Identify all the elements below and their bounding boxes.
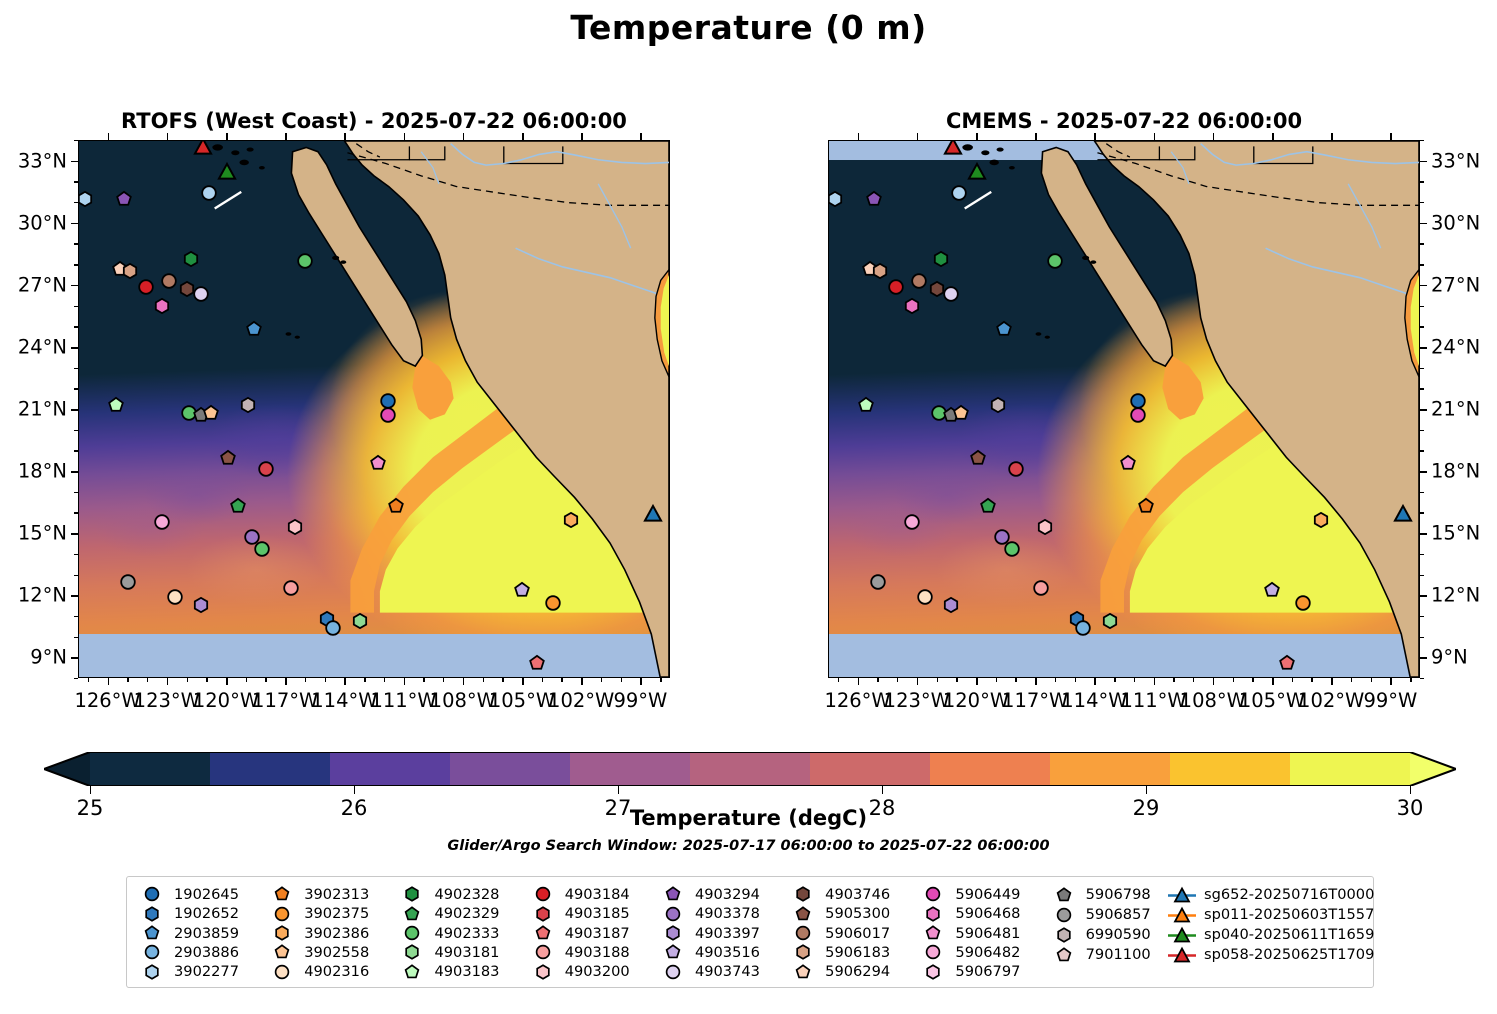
- x-tick: [858, 678, 860, 685]
- y-tick-label: 21°N: [1431, 398, 1480, 421]
- x-tick-minor: [621, 678, 622, 682]
- x-tick-minor: [838, 678, 839, 682]
- x-tick-label: 117°W: [1002, 689, 1068, 712]
- legend-item-label: 4903397: [695, 925, 760, 942]
- argo-legend-marker-icon: [788, 925, 818, 942]
- x-tick-top: [463, 133, 465, 140]
- y-tick: [71, 657, 78, 659]
- colorbar-tick: [882, 786, 883, 794]
- argo-legend-marker-icon: [918, 963, 948, 980]
- legend-item-label: 4903294: [695, 886, 760, 903]
- legend-item[interactable]: 5906798: [1049, 885, 1167, 904]
- legend-item-label: 7901100: [1086, 946, 1151, 963]
- x-tick-minor: [1134, 678, 1135, 682]
- x-tick-label: 99°W: [613, 689, 667, 712]
- x-tick-label: 102°W: [1298, 689, 1364, 712]
- x-tick-label: 105°W: [1239, 689, 1305, 712]
- argo-legend-marker-icon: [528, 905, 558, 922]
- x-tick-minor: [265, 678, 266, 682]
- legend-item[interactable]: 1902645: [137, 885, 267, 903]
- y-tick-minor: [1420, 430, 1424, 431]
- y-tick-minor: [1420, 575, 1424, 576]
- x-tick-label: 123°W: [134, 689, 200, 712]
- legend-column: 49031844903185490318749031884903200: [528, 885, 658, 981]
- legend-item-label: sp011-20250603T1557: [1204, 906, 1374, 923]
- x-tick-minor: [1015, 678, 1016, 682]
- argo-legend-marker-icon: [528, 944, 558, 961]
- x-tick-top: [581, 133, 583, 140]
- x-tick: [917, 678, 919, 685]
- legend-item[interactable]: 4902328: [397, 885, 527, 903]
- x-tick-minor: [561, 678, 562, 682]
- legend-item[interactable]: 5906183: [788, 943, 918, 961]
- argo-legend-marker-icon: [267, 905, 297, 922]
- x-tick-minor: [147, 678, 148, 682]
- x-tick: [167, 678, 169, 685]
- legend-column: 49023284902329490233349031814903183: [397, 885, 527, 981]
- argo-legend-marker-icon: [788, 963, 818, 980]
- x-tick-minor: [443, 678, 444, 682]
- x-tick: [1035, 678, 1037, 685]
- argo-legend-marker-icon: [528, 963, 558, 980]
- argo-legend-marker-icon: [137, 886, 167, 903]
- glider-legend-marker-icon: [1167, 926, 1197, 943]
- legend-item[interactable]: 6990590: [1049, 925, 1167, 944]
- legend-item[interactable]: 5906294: [788, 963, 918, 981]
- x-tick-minor: [877, 678, 878, 682]
- y-tick-label: 30°N: [18, 211, 67, 234]
- legend-item-label: 2903886: [174, 944, 239, 961]
- colorbar-tick: [618, 786, 619, 794]
- x-tick-minor: [127, 678, 128, 682]
- legend-item-label: 4902328: [434, 886, 499, 903]
- legend-item-label: 5906857: [1086, 906, 1151, 923]
- y-tick-minor: [1420, 326, 1424, 327]
- x-tick: [640, 678, 642, 685]
- argo-legend-marker-icon: [658, 905, 688, 922]
- x-tick: [1272, 678, 1274, 685]
- x-tick-minor: [364, 678, 365, 682]
- colorbar-title: Temperature (degC): [0, 806, 1497, 830]
- y-tick-label: 27°N: [18, 273, 67, 296]
- x-tick-top: [1213, 133, 1215, 140]
- y-tick-minor: [1420, 181, 1424, 182]
- argo-legend-marker-icon: [788, 944, 818, 961]
- x-tick-label: 126°W: [74, 689, 140, 712]
- legend-item[interactable]: 4903187: [528, 924, 658, 942]
- legend-item-label: 4903188: [565, 944, 630, 961]
- legend-item[interactable]: 4903294: [658, 885, 788, 903]
- legend-item[interactable]: 3902313: [267, 885, 397, 903]
- legend-item[interactable]: 3902375: [267, 904, 397, 922]
- x-tick-label: 126°W: [824, 689, 890, 712]
- legend-item[interactable]: 4903378: [658, 904, 788, 922]
- legend-column: 19026451902652290385929038863902277: [137, 885, 267, 981]
- legend-item-label: 4903378: [695, 905, 760, 922]
- legend-item-label: 4903516: [695, 944, 760, 961]
- legend-item[interactable]: 3902386: [267, 924, 397, 942]
- x-tick-minor: [246, 678, 247, 682]
- legend-item[interactable]: 4902329: [397, 904, 527, 922]
- y-tick: [1420, 347, 1427, 349]
- x-tick: [976, 678, 978, 685]
- x-tick-minor: [1173, 678, 1174, 682]
- search-window-caption: Glider/Argo Search Window: 2025-07-17 06…: [0, 838, 1497, 854]
- colorbar[interactable]: 252627282930: [44, 752, 1456, 786]
- y-tick-label: 33°N: [18, 149, 67, 172]
- glider-legend-marker-icon: [1167, 906, 1197, 923]
- y-tick-label: 21°N: [18, 398, 67, 421]
- argo-legend-marker-icon: [1049, 886, 1079, 903]
- y-tick-label: 9°N: [1431, 646, 1468, 669]
- y-tick-minor: [1420, 512, 1424, 513]
- legend-item-label: 4903746: [825, 886, 890, 903]
- x-tick-top: [1094, 133, 1096, 140]
- x-tick-minor: [1292, 678, 1293, 682]
- legend-item[interactable]: 4903200: [528, 963, 658, 981]
- argo-legend-marker-icon: [918, 905, 948, 922]
- x-tick-label: 114°W: [1061, 689, 1127, 712]
- x-tick-minor: [305, 678, 306, 682]
- x-tick: [1154, 678, 1156, 685]
- y-tick-label: 12°N: [1431, 584, 1480, 607]
- y-tick-minor: [1420, 368, 1424, 369]
- legend-item-label: sp058-20250625T1709: [1204, 946, 1374, 963]
- legend-item[interactable]: 4903746: [788, 885, 918, 903]
- x-tick-label: 108°W: [430, 689, 496, 712]
- y-tick: [1420, 657, 1427, 659]
- argo-legend-marker-icon: [137, 963, 167, 980]
- y-tick-minor: [1420, 450, 1424, 451]
- legend-item[interactable]: 4903183: [397, 963, 527, 981]
- legend-item[interactable]: 4903184: [528, 885, 658, 903]
- legend-item-label: 4903200: [565, 963, 630, 980]
- x-tick-label: 120°W: [193, 689, 259, 712]
- x-tick: [581, 678, 583, 685]
- legend-item-label: 5906798: [1086, 886, 1151, 903]
- x-tick-minor: [88, 678, 89, 682]
- x-tick-top: [1331, 133, 1333, 140]
- argo-legend-marker-icon: [918, 944, 948, 961]
- colorbar-tick: [1146, 786, 1147, 794]
- y-tick: [71, 347, 78, 349]
- x-tick: [108, 678, 110, 685]
- legend-item[interactable]: 3902558: [267, 943, 397, 961]
- y-tick-label: 18°N: [18, 460, 67, 483]
- x-tick-minor: [1371, 678, 1372, 682]
- x-tick: [1213, 678, 1215, 685]
- argo-legend-marker-icon: [267, 963, 297, 980]
- x-tick-minor: [937, 678, 938, 682]
- y-tick: [71, 471, 78, 473]
- x-tick-minor: [1114, 678, 1115, 682]
- x-tick: [1094, 678, 1096, 685]
- legend-item-label: 5906468: [955, 905, 1020, 922]
- y-tick-label: 24°N: [18, 335, 67, 358]
- y-tick: [1420, 595, 1427, 597]
- legend-item-label: 4903743: [695, 963, 760, 980]
- legend-item[interactable]: 5906797: [918, 963, 1048, 981]
- legend-item[interactable]: 4902316: [267, 963, 397, 981]
- x-tick-label: 123°W: [884, 689, 950, 712]
- legend-item[interactable]: 7901100: [1049, 945, 1167, 964]
- legend-item-label: 5906481: [955, 925, 1020, 942]
- y-tick-label: 30°N: [1431, 211, 1480, 234]
- x-tick-minor: [1075, 678, 1076, 682]
- argo-legend-marker-icon: [918, 925, 948, 942]
- legend-column: 49032944903378490339749035164903743: [658, 885, 788, 981]
- x-tick-top: [1154, 133, 1156, 140]
- legend-item-label: 4902329: [434, 905, 499, 922]
- legend-item-label: 5906017: [825, 925, 890, 942]
- legend-item-label: sg652-20250716T0000: [1204, 886, 1374, 903]
- legend-item[interactable]: 4903516: [658, 943, 788, 961]
- x-tick: [226, 678, 228, 685]
- argo-legend-marker-icon: [267, 944, 297, 961]
- x-tick-top: [108, 133, 110, 140]
- argo-legend-marker-icon: [658, 963, 688, 980]
- legend-item[interactable]: 4903188: [528, 943, 658, 961]
- x-tick-minor: [206, 678, 207, 682]
- legend-item[interactable]: 5906481: [918, 924, 1048, 942]
- y-tick-minor: [1420, 554, 1424, 555]
- legend-item-label: 5906482: [955, 944, 1020, 961]
- x-tick-label: 111°W: [1120, 689, 1186, 712]
- x-tick-label: 120°W: [943, 689, 1009, 712]
- x-tick-label: 102°W: [548, 689, 614, 712]
- y-tick-minor: [1420, 637, 1424, 638]
- x-tick-label: 99°W: [1363, 689, 1417, 712]
- legend-item[interactable]: 5906857: [1049, 905, 1167, 924]
- y-tick: [1420, 533, 1427, 535]
- y-tick-label: 33°N: [1431, 149, 1480, 172]
- x-tick-minor: [1351, 678, 1352, 682]
- legend-item[interactable]: 5906449: [918, 885, 1048, 903]
- y-tick: [1420, 223, 1427, 225]
- legend-column: 49037465905300590601759061835906294: [788, 885, 918, 981]
- x-tick-minor: [542, 678, 543, 682]
- x-tick-minor: [325, 678, 326, 682]
- legend-item-label: 3902313: [304, 886, 369, 903]
- x-tick-minor: [996, 678, 997, 682]
- legend-item-label: 5906449: [955, 886, 1020, 903]
- x-tick: [1331, 678, 1333, 685]
- legend-item-label: 4903184: [565, 886, 630, 903]
- argo-legend-marker-icon: [267, 925, 297, 942]
- y-tick: [71, 409, 78, 411]
- legend-item-label: 4903181: [434, 944, 499, 961]
- legend-grid: 1902645190265229038592903886390227739023…: [137, 885, 1367, 981]
- y-tick: [1420, 409, 1427, 411]
- legend-item[interactable]: 5906482: [918, 943, 1048, 961]
- argo-legend-marker-icon: [137, 925, 167, 942]
- argo-legend-marker-icon: [397, 963, 427, 980]
- x-tick: [463, 678, 465, 685]
- x-tick-minor: [1311, 678, 1312, 682]
- legend-item[interactable]: 5906017: [788, 924, 918, 942]
- x-tick-label: 117°W: [252, 689, 318, 712]
- argo-legend-marker-icon: [788, 905, 818, 922]
- legend-column: 5906798590685769905907901100: [1049, 885, 1167, 981]
- x-tick: [522, 678, 524, 685]
- legend-item-label: 1902652: [174, 905, 239, 922]
- y-tick-minor: [1420, 202, 1424, 203]
- y-tick-minor: [74, 678, 78, 679]
- x-tick: [285, 678, 287, 685]
- x-tick-minor: [502, 678, 503, 682]
- argo-legend-marker-icon: [528, 886, 558, 903]
- legend-item-label: sp040-20250611T1659: [1204, 926, 1374, 943]
- legend-item[interactable]: 1902652: [137, 904, 267, 922]
- x-tick-minor: [1252, 678, 1253, 682]
- argo-legend-marker-icon: [397, 944, 427, 961]
- x-tick-top: [976, 133, 978, 140]
- x-tick-top: [404, 133, 406, 140]
- argo-legend-marker-icon: [397, 886, 427, 903]
- x-axis-bottom-left: 126°W123°W120°W117°W114°W111°W108°W105°W…: [78, 140, 670, 678]
- x-tick-minor: [897, 678, 898, 682]
- argo-legend-marker-icon: [918, 886, 948, 903]
- legend-item-label: 5906183: [825, 944, 890, 961]
- y-tick-label: 9°N: [30, 646, 67, 669]
- x-tick-minor: [1410, 678, 1411, 682]
- glider-legend-marker-icon: [1167, 886, 1197, 903]
- x-tick-top: [167, 133, 169, 140]
- x-tick-top: [1035, 133, 1037, 140]
- x-axis-bottom-right: 126°W123°W120°W117°W114°W111°W108°W105°W…: [828, 140, 1420, 678]
- legend-item-label: 2903859: [174, 925, 239, 942]
- colorbar-tick: [354, 786, 355, 794]
- glider-legend-marker-icon: [1167, 946, 1197, 963]
- colorbar-tick: [90, 786, 91, 794]
- x-tick-minor: [1233, 678, 1234, 682]
- y-tick: [1420, 471, 1427, 473]
- legend-item-label: 3902386: [304, 925, 369, 942]
- legend-item[interactable]: 3902277: [137, 963, 267, 981]
- x-tick-top: [285, 133, 287, 140]
- x-tick-label: 111°W: [370, 689, 436, 712]
- panel-cmems: CMEMS - 2025-07-22 06:00:00 9°N12°N15°N1…: [828, 140, 1420, 678]
- x-tick-minor: [1193, 678, 1194, 682]
- x-tick-minor: [601, 678, 602, 682]
- x-tick-minor: [483, 678, 484, 682]
- legend-item-label: 5906797: [955, 963, 1020, 980]
- legend-item-label: 1902645: [174, 886, 239, 903]
- legend-item-label: 3902558: [304, 944, 369, 961]
- legend-item[interactable]: 4903185: [528, 904, 658, 922]
- y-tick-minor: [1420, 492, 1424, 493]
- legend-item-label: 3902375: [304, 905, 369, 922]
- legend-item[interactable]: sp011-20250603T1557: [1167, 905, 1367, 924]
- argo-legend-marker-icon: [267, 886, 297, 903]
- legend-item[interactable]: 5905300: [788, 904, 918, 922]
- y-tick: [71, 223, 78, 225]
- argo-legend-marker-icon: [1049, 906, 1079, 923]
- y-tick-minor: [1420, 264, 1424, 265]
- argo-legend-marker-icon: [528, 925, 558, 942]
- y-tick-minor: [1420, 388, 1424, 389]
- y-tick-label: 18°N: [1431, 460, 1480, 483]
- x-tick-top: [1272, 133, 1274, 140]
- legend-item-label: 5905300: [825, 905, 890, 922]
- legend-item[interactable]: 4903397: [658, 924, 788, 942]
- figure-title: Temperature (0 m): [0, 8, 1497, 47]
- x-tick-label: 108°W: [1180, 689, 1246, 712]
- colorbar-tick: [1410, 786, 1411, 794]
- argo-legend-marker-icon: [1049, 926, 1079, 943]
- legend-item-label: 4902316: [304, 963, 369, 980]
- legend-item-label: 3902277: [174, 963, 239, 980]
- x-tick-top: [344, 133, 346, 140]
- y-tick-minor: [1420, 306, 1424, 307]
- y-tick-label: 12°N: [18, 584, 67, 607]
- legend-item[interactable]: 2903886: [137, 943, 267, 961]
- x-tick-minor: [1055, 678, 1056, 682]
- argo-legend-marker-icon: [658, 944, 688, 961]
- x-tick: [344, 678, 346, 685]
- x-tick-top: [858, 133, 860, 140]
- legend-item-label: 6990590: [1086, 926, 1151, 943]
- legend-item[interactable]: 4903743: [658, 963, 788, 981]
- colorbar-gradient: [44, 752, 1456, 786]
- argo-legend-marker-icon: [137, 905, 167, 922]
- legend-item-label: 5906294: [825, 963, 890, 980]
- argo-legend-marker-icon: [137, 944, 167, 961]
- x-tick: [404, 678, 406, 685]
- argo-legend-marker-icon: [788, 886, 818, 903]
- x-tick-label: 105°W: [489, 689, 555, 712]
- legend-column: sg652-20250716T0000sp011-20250603T1557sp…: [1167, 885, 1367, 981]
- legend-item-label: 4903187: [565, 925, 630, 942]
- legend-item[interactable]: 2903859: [137, 924, 267, 942]
- legend-item[interactable]: sg652-20250716T0000: [1167, 885, 1367, 904]
- y-tick: [71, 533, 78, 535]
- y-tick-minor: [1420, 140, 1424, 141]
- y-tick-label: 15°N: [1431, 522, 1480, 545]
- x-tick-top: [917, 133, 919, 140]
- x-tick-top: [226, 133, 228, 140]
- legend-column: 59064495906468590648159064825906797: [918, 885, 1048, 981]
- legend[interactable]: 1902645190265229038592903886390227739023…: [126, 876, 1374, 988]
- y-tick: [1420, 285, 1427, 287]
- x-tick-top: [522, 133, 524, 140]
- x-tick-minor: [956, 678, 957, 682]
- x-tick-top: [1390, 133, 1392, 140]
- argo-legend-marker-icon: [397, 905, 427, 922]
- y-tick-label: 15°N: [18, 522, 67, 545]
- x-tick-top: [640, 133, 642, 140]
- argo-legend-marker-icon: [658, 925, 688, 942]
- x-tick-minor: [187, 678, 188, 682]
- legend-item[interactable]: sp040-20250611T1659: [1167, 925, 1367, 944]
- y-tick-label: 24°N: [1431, 335, 1480, 358]
- x-tick-minor: [384, 678, 385, 682]
- y-tick-minor: [1420, 616, 1424, 617]
- legend-item-label: 4902333: [434, 925, 499, 942]
- argo-legend-marker-icon: [397, 925, 427, 942]
- panel-rtofs: RTOFS (West Coast) - 2025-07-22 06:00:00…: [78, 140, 670, 678]
- x-tick: [1390, 678, 1392, 685]
- legend-item[interactable]: 4902333: [397, 924, 527, 942]
- legend-item[interactable]: 5906468: [918, 904, 1048, 922]
- legend-item-label: 4903183: [434, 963, 499, 980]
- legend-item[interactable]: sp058-20250625T1709: [1167, 945, 1367, 964]
- legend-item-label: 4903185: [565, 905, 630, 922]
- argo-legend-marker-icon: [658, 886, 688, 903]
- argo-legend-marker-icon: [1049, 946, 1079, 963]
- legend-item[interactable]: 4903181: [397, 943, 527, 961]
- y-tick: [71, 595, 78, 597]
